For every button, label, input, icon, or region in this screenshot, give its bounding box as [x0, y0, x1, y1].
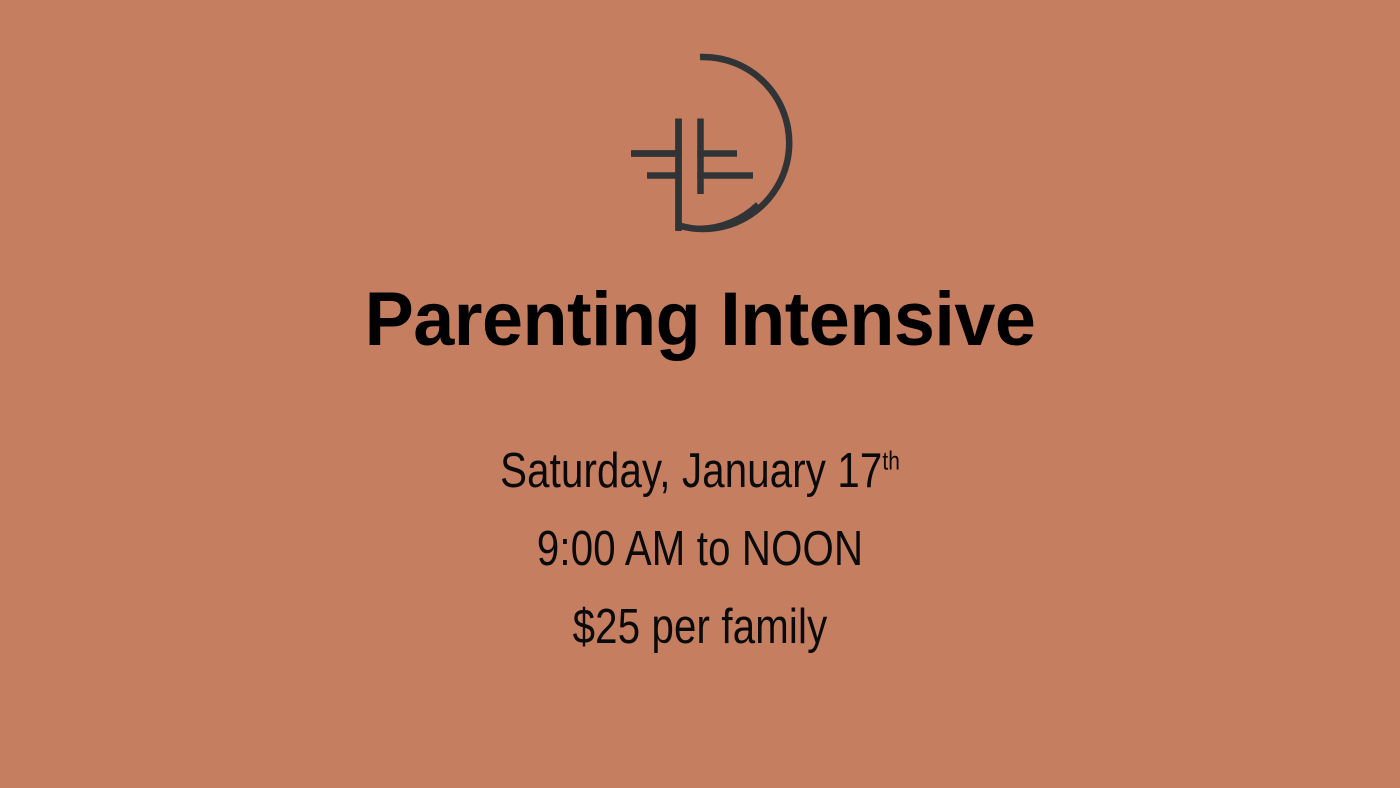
- page-title: Parenting Intensive: [21, 277, 1379, 363]
- church-cross-in-circle-logo: [607, 50, 793, 236]
- event-date-text: Saturday, January 17: [500, 444, 882, 498]
- ordinal-suffix: th: [882, 448, 899, 476]
- event-time-line: 9:00 AM to NOON: [126, 510, 1274, 588]
- event-price-line: $25 per family: [126, 588, 1274, 666]
- event-announcement-slide: Parenting Intensive Saturday, January 17…: [0, 0, 1400, 788]
- event-time-text: 9:00 AM to NOON: [537, 522, 863, 576]
- circle-outline: [678, 57, 789, 229]
- cross-in-circle-icon: [607, 50, 793, 236]
- event-date-line: Saturday, January 17th: [126, 432, 1274, 510]
- event-price-text: $25 per family: [573, 600, 828, 654]
- event-details-block: Saturday, January 17th 9:00 AM to NOON $…: [0, 432, 1400, 666]
